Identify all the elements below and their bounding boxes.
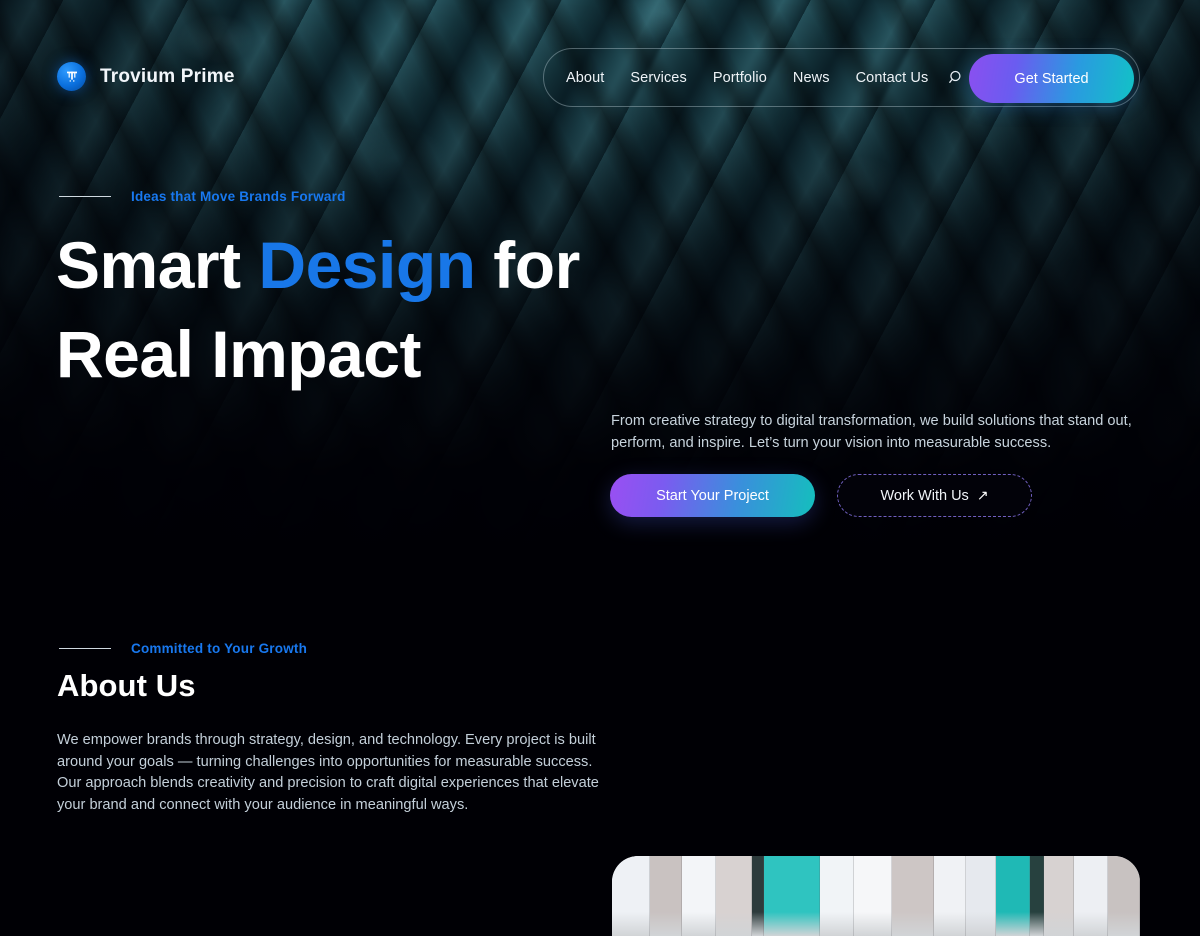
nav-links: About Services Portfolio News Contact Us [566,70,928,86]
headline-line-2: Real Impact [56,317,421,391]
about-paragraph: We empower brands through strategy, desi… [57,730,602,816]
hero-eyebrow-label: Ideas that Move Brands Forward [131,189,346,204]
work-with-us-label: Work With Us [880,488,968,504]
get-started-label: Get Started [1014,71,1088,87]
eyebrow-rule [59,648,111,650]
headline-part-1: Smart [56,228,258,302]
nav-item-contact-us[interactable]: Contact Us [856,70,929,86]
eyebrow-rule [59,196,111,198]
brand-logo[interactable]: Trovium Prime [57,62,235,91]
work-with-us-button[interactable]: Work With Us ↗ [837,474,1032,517]
get-started-button[interactable]: Get Started [969,54,1134,103]
about-section: Committed to Your Growth About Us We emp… [0,580,1200,900]
brand-name: Trovium Prime [100,66,235,88]
nav-item-services[interactable]: Services [630,70,686,86]
start-your-project-label: Start Your Project [656,488,769,504]
search-icon[interactable] [946,68,966,88]
nav-item-news[interactable]: News [793,70,830,86]
primary-nav: About Services Portfolio News Contact Us… [543,48,1140,107]
about-image-card [612,856,1140,936]
headline-part-2: for [475,228,579,302]
architecture-panels-photo [612,856,1140,936]
hero-paragraph: From creative strategy to digital transf… [611,410,1141,454]
about-title: About Us [57,668,196,704]
hero-eyebrow: Ideas that Move Brands Forward [59,189,346,204]
headline-accent: Design [258,228,475,302]
nav-item-about[interactable]: About [566,70,604,86]
arrow-up-right-icon: ↗ [977,487,989,504]
nav-item-portfolio[interactable]: Portfolio [713,70,767,86]
site-header: Trovium Prime About Services Portfolio N… [0,0,1200,155]
about-eyebrow: Committed to Your Growth [59,641,307,656]
trovium-t-logo-icon [57,62,86,91]
about-eyebrow-label: Committed to Your Growth [131,641,307,656]
hero-headline: Smart Design for Real Impact [56,221,756,399]
start-your-project-button[interactable]: Start Your Project [610,474,815,517]
hero-actions: Start Your Project Work With Us ↗ [610,474,1032,517]
